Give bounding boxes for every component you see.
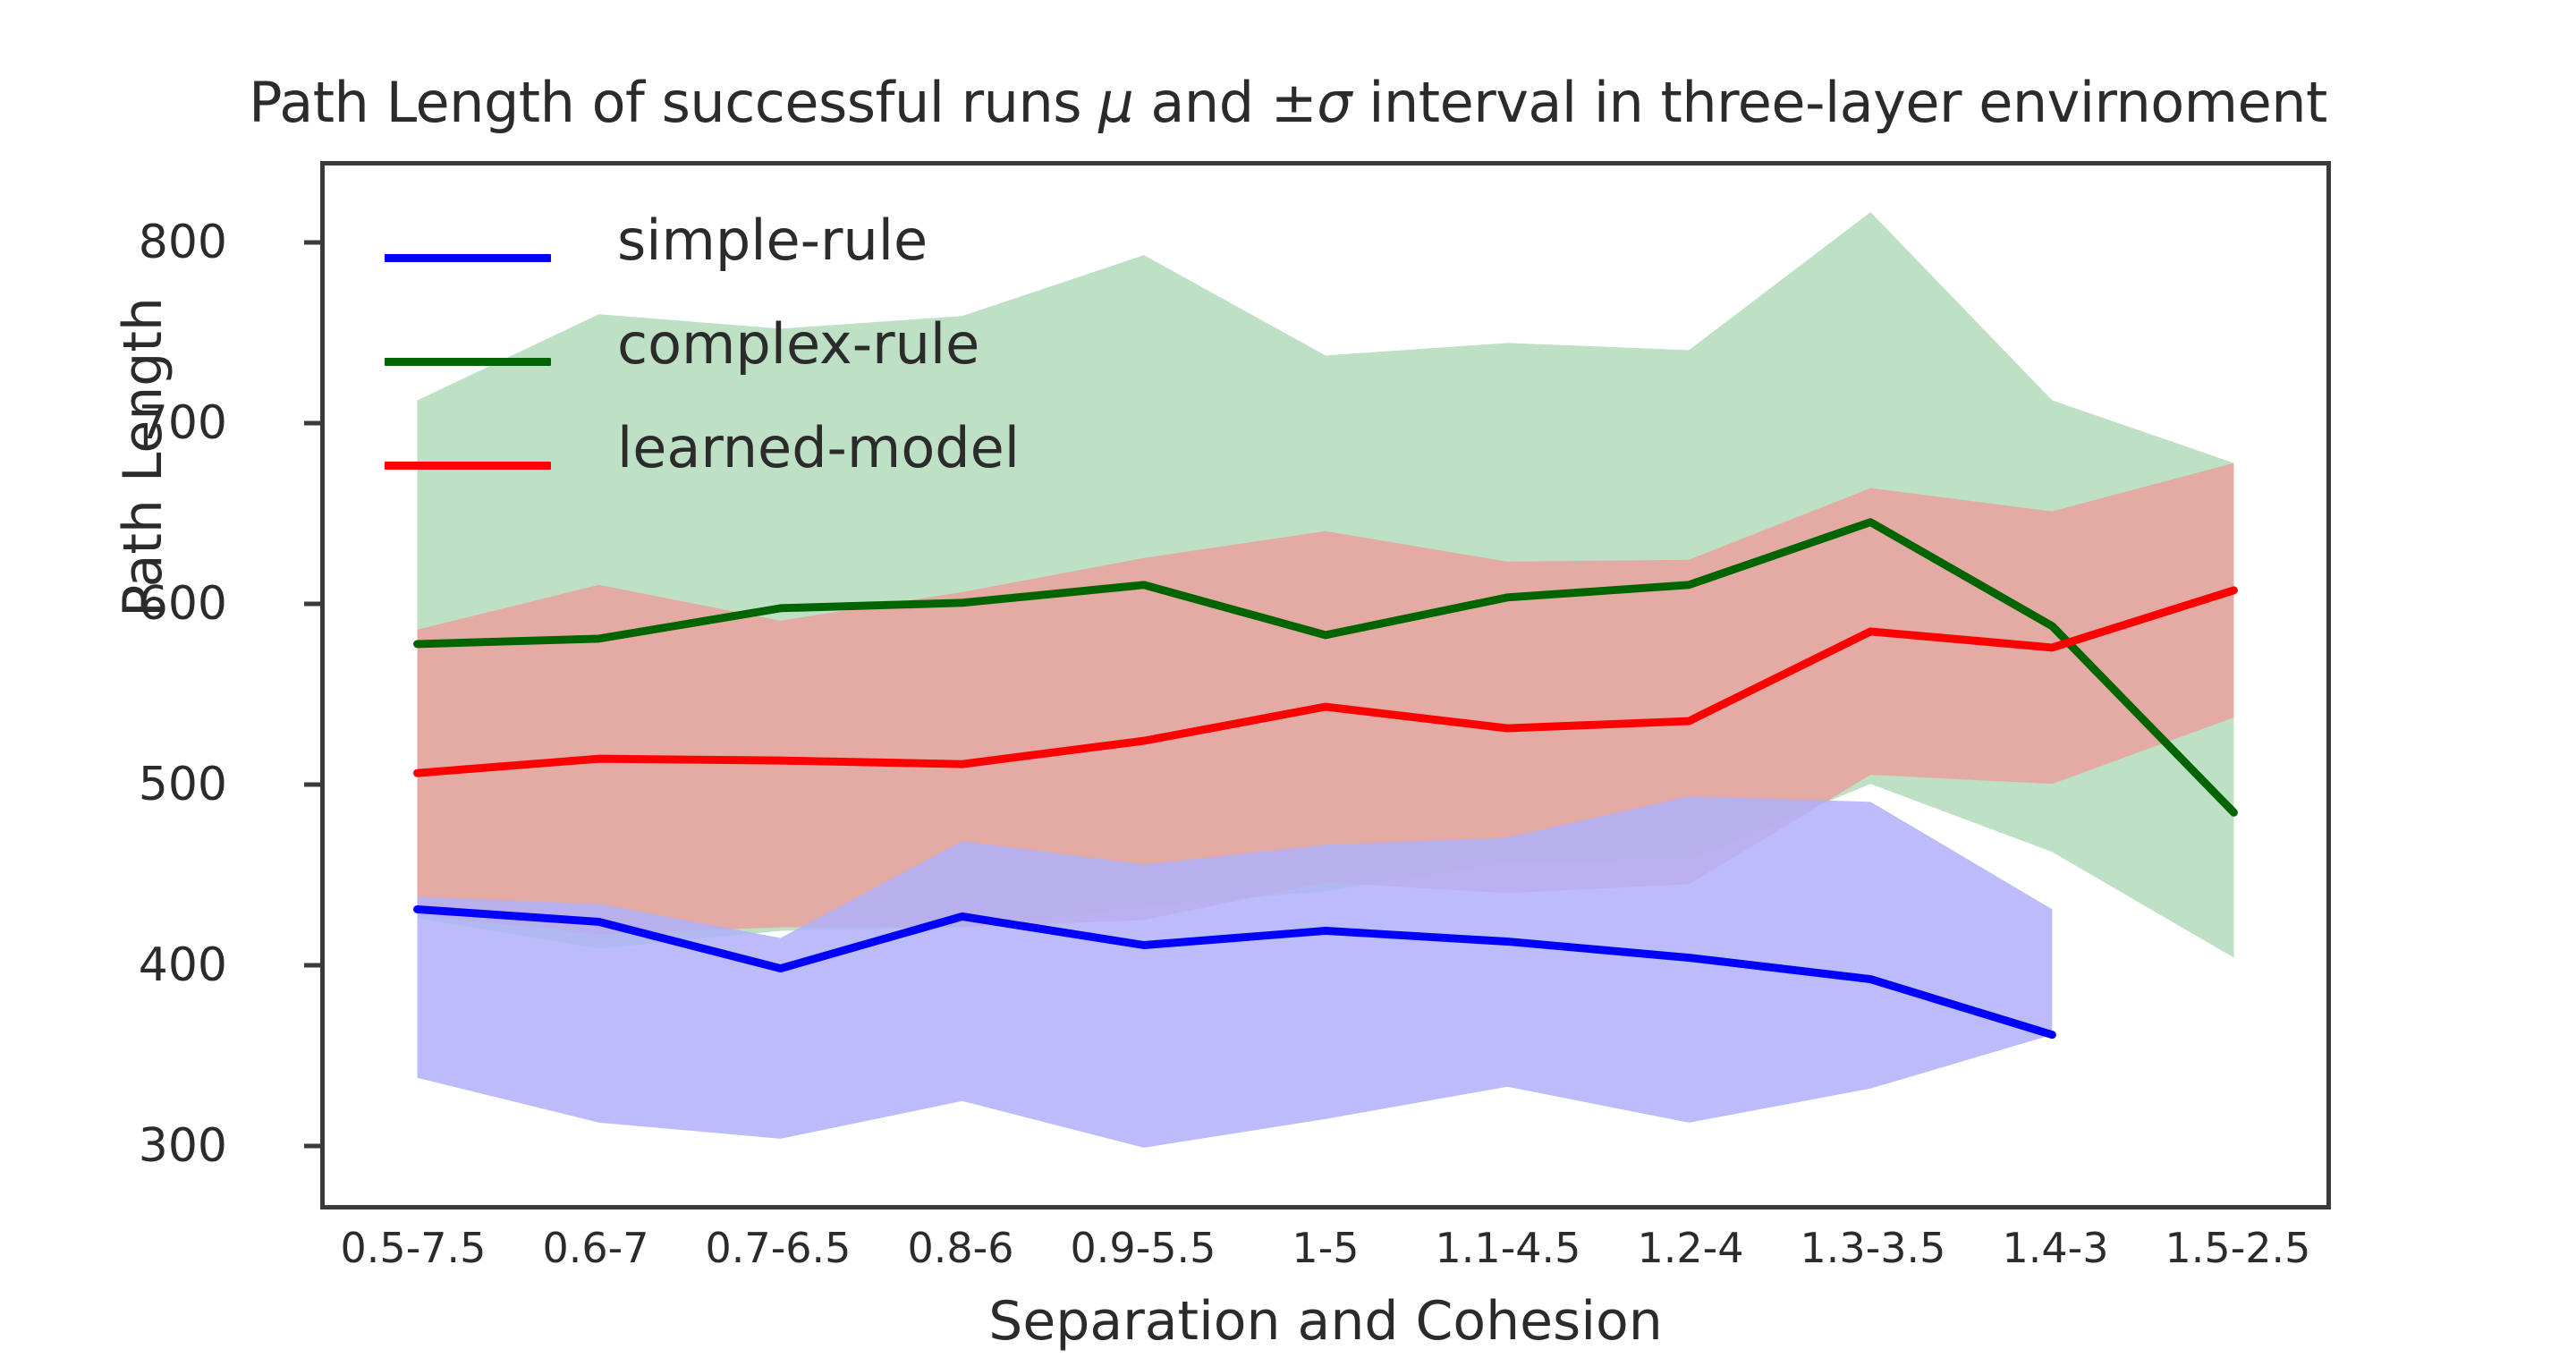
legend-item-complex-rule[interactable]: complex-rule [385, 311, 1190, 415]
x-tick-label: 0.7-6.5 [706, 1224, 852, 1272]
chart-legend: simple-rulecomplex-rulelearned-model [385, 208, 1190, 519]
y-tick-mark [304, 240, 320, 244]
y-tick-label: 400 [0, 938, 227, 992]
legend-label: simple-rule [617, 208, 928, 273]
figure-canvas: Path Length of successful runs μ and ±σ … [0, 0, 2576, 1358]
x-tick-label: 1-5 [1292, 1224, 1359, 1272]
title-text-after: interval in three-layer envirnoment [1352, 70, 2327, 135]
legend-color-swatch [385, 462, 551, 470]
legend-item-simple-rule[interactable]: simple-rule [385, 208, 1190, 311]
x-tick-label: 1.4-3 [2002, 1224, 2108, 1272]
title-mu-symbol: μ [1098, 70, 1133, 135]
x-tick-label: 1.5-2.5 [2165, 1224, 2311, 1272]
x-tick-label: 0.9-5.5 [1071, 1224, 1216, 1272]
title-sigma-symbol: σ [1317, 70, 1352, 135]
y-tick-label: 300 [0, 1119, 227, 1173]
x-tick-label: 0.6-7 [542, 1224, 648, 1272]
y-axis-label: Path Length [112, 10, 174, 904]
x-axis-label: Separation and Cohesion [320, 1290, 2331, 1353]
legend-color-swatch [385, 358, 551, 366]
legend-color-swatch [385, 254, 551, 262]
x-tick-label: 0.8-6 [907, 1224, 1013, 1272]
y-tick-mark [304, 1144, 320, 1149]
y-tick-mark [304, 963, 320, 968]
x-tick-label: 1.2-4 [1637, 1224, 1743, 1272]
y-tick-mark [304, 602, 320, 607]
y-tick-mark [304, 421, 320, 426]
title-text-between: and ± [1133, 70, 1317, 135]
legend-item-learned-model[interactable]: learned-model [385, 415, 1190, 519]
x-tick-label: 0.5-7.5 [341, 1224, 487, 1272]
legend-label: learned-model [617, 415, 1020, 480]
title-text-before: Path Length of successful runs [249, 70, 1098, 135]
x-tick-label: 1.1-4.5 [1436, 1224, 1581, 1272]
y-tick-mark [304, 783, 320, 787]
x-tick-label: 1.3-3.5 [1801, 1224, 1946, 1272]
legend-label: complex-rule [617, 311, 979, 377]
chart-title: Path Length of successful runs μ and ±σ … [0, 70, 2576, 135]
